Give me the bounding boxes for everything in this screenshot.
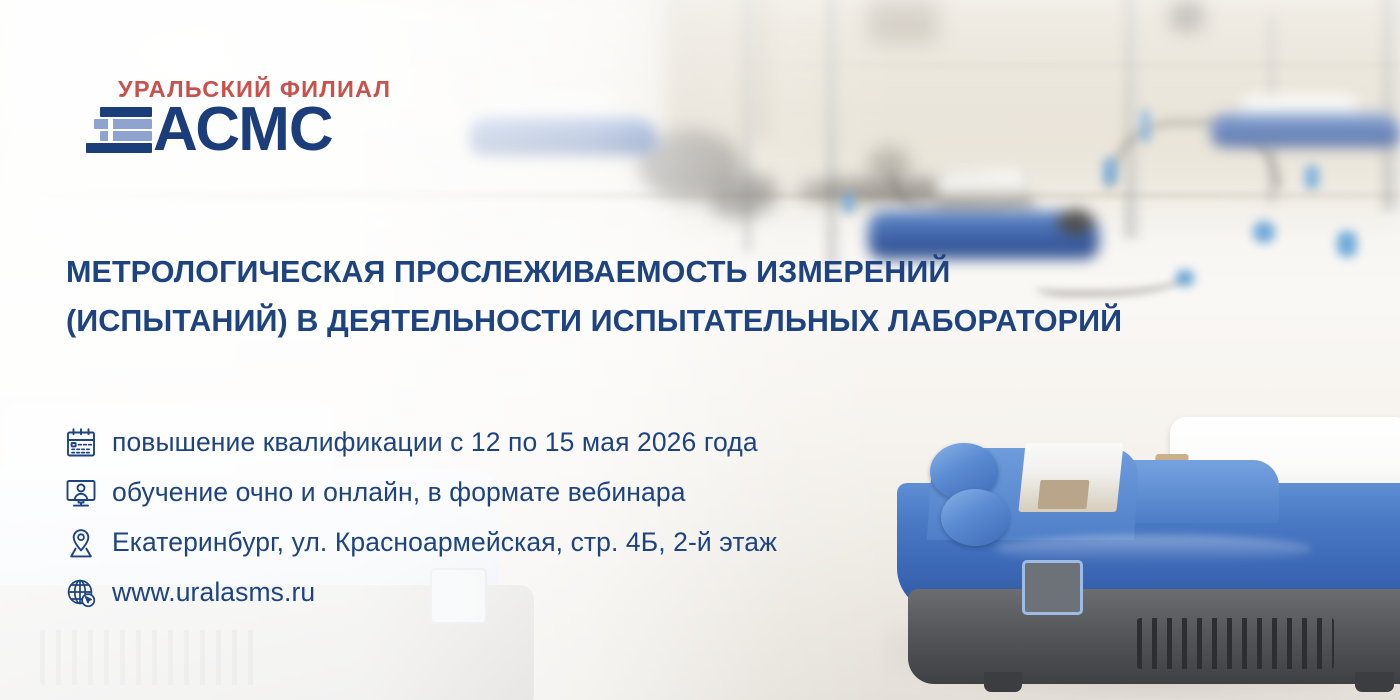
list-item-website[interactable]: www.uralasms.ru	[64, 568, 964, 618]
list-item-dates: повышение квалификации с 12 по 15 мая 20…	[64, 418, 964, 468]
stacked-bars-icon	[86, 105, 152, 155]
logo-lockup: АСМС	[86, 105, 386, 156]
address-text: Екатеринбург, ул. Красноармейская, стр. …	[112, 527, 777, 559]
page-title: МЕТРОЛОГИЧЕСКАЯ ПРОСЛЕЖИВАЕМОСТЬ ИЗМЕРЕН…	[66, 248, 1186, 347]
map-pin-icon	[64, 526, 112, 560]
list-item-address: Екатеринбург, ул. Красноармейская, стр. …	[64, 518, 964, 568]
calendar-icon	[64, 426, 112, 460]
format-text: обучение очно и онлайн, в формате вебина…	[112, 477, 686, 509]
dates-text: повышение квалификации с 12 по 15 мая 20…	[112, 427, 758, 459]
webinar-monitor-icon	[64, 476, 112, 510]
headline-line-1: МЕТРОЛОГИЧЕСКАЯ ПРОСЛЕЖИВАЕМОСТЬ ИЗМЕРЕН…	[66, 248, 1186, 297]
website-text[interactable]: www.uralasms.ru	[112, 577, 315, 609]
asms-logo[interactable]: УРАЛЬСКИЙ ФИЛИАЛ АСМС	[86, 78, 386, 170]
promo-banner: УРАЛЬСКИЙ ФИЛИАЛ АСМС МЕТРОЛОГИЧЕСКАЯ ПР…	[0, 0, 1400, 700]
headline-line-2: (ИСПЫТАНИЙ) В ДЕЯТЕЛЬНОСТИ ИСПЫТАТЕЛЬНЫХ…	[66, 297, 1186, 346]
course-details-list: повышение квалификации с 12 по 15 мая 20…	[64, 418, 964, 618]
list-item-format: обучение очно и онлайн, в формате вебина…	[64, 468, 964, 518]
logo-acronym: АСМС	[153, 105, 333, 156]
globe-cursor-icon	[64, 576, 112, 610]
